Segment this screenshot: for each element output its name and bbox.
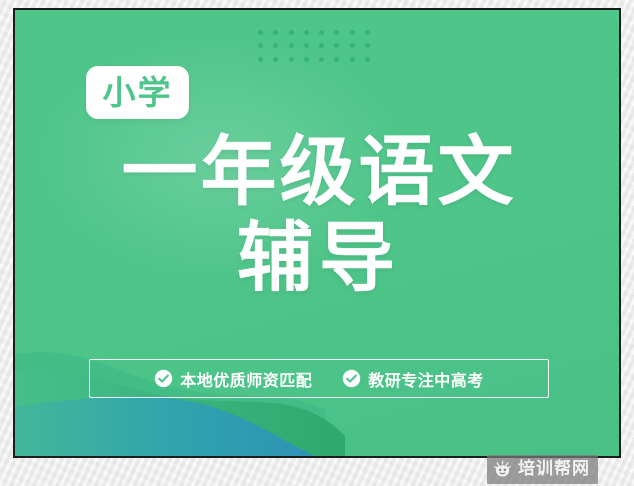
watermark: 培训帮网	[487, 455, 598, 484]
dot	[350, 30, 355, 35]
dot	[273, 30, 278, 35]
dot	[258, 43, 263, 48]
dot	[258, 57, 263, 62]
dot	[319, 30, 324, 35]
features-bar: 本地优质师资匹配 教研专注中高考	[89, 359, 549, 398]
dot	[289, 30, 294, 35]
dot	[334, 57, 339, 62]
headline-line-2: 辅导	[15, 220, 621, 296]
dot	[304, 30, 309, 35]
check-circle-icon	[342, 369, 361, 388]
course-poster-card: 小学 一年级语文 辅导	[13, 8, 621, 458]
grade-level-badge-label: 小学	[103, 76, 173, 109]
dot	[365, 57, 370, 62]
grade-level-badge: 小学	[86, 66, 189, 119]
poster-headline: 一年级语文 辅导	[15, 134, 621, 296]
dot	[273, 43, 278, 48]
dot	[350, 43, 355, 48]
dot	[365, 43, 370, 48]
sun-face-icon	[493, 460, 512, 479]
dot	[319, 57, 324, 62]
dot-grid-decoration	[253, 26, 375, 66]
check-circle-icon	[154, 369, 173, 388]
dot	[350, 57, 355, 62]
feature-item: 教研专注中高考	[342, 367, 484, 391]
dot	[289, 43, 294, 48]
dot	[365, 30, 370, 35]
headline-line-1: 一年级语文	[15, 134, 621, 210]
dot	[258, 30, 263, 35]
dot	[334, 30, 339, 35]
feature-item: 本地优质师资匹配	[154, 367, 312, 391]
feature-label: 教研专注中高考	[368, 367, 484, 391]
dot	[334, 43, 339, 48]
dot	[304, 57, 309, 62]
dot	[304, 43, 309, 48]
watermark-text: 培训帮网	[518, 461, 590, 478]
dot	[289, 57, 294, 62]
feature-label: 本地优质师资匹配	[180, 367, 312, 391]
dot	[319, 43, 324, 48]
dot	[273, 57, 278, 62]
screenshot-root: 小学 一年级语文 辅导	[0, 0, 634, 486]
